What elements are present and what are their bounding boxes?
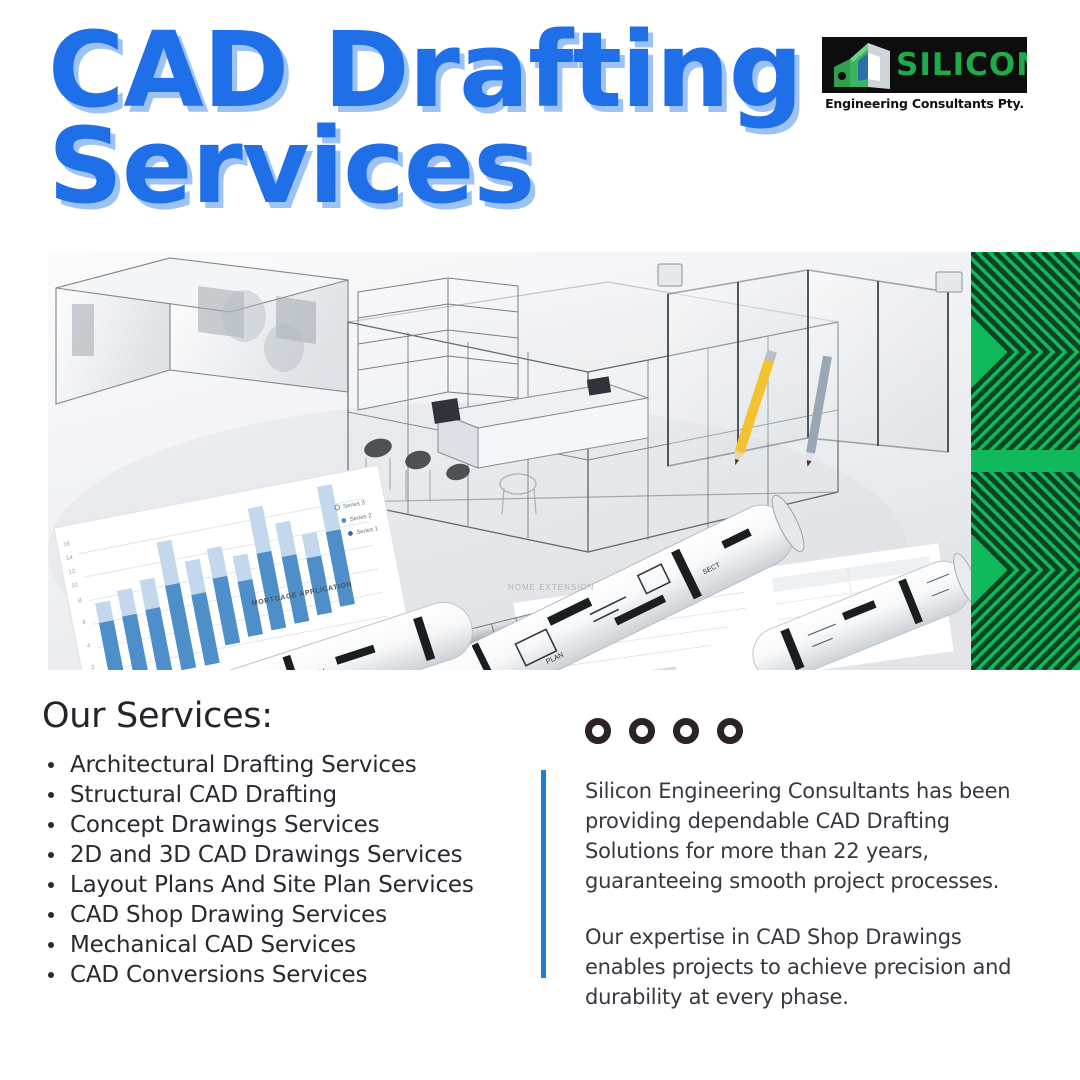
logo-tagline: Engineering Consultants Pty. Ltd. — [822, 93, 1027, 115]
about-paragraph-1: Silicon Engineering Consultants has been… — [585, 776, 1045, 896]
service-list-item: Architectural Drafting Services — [68, 750, 522, 780]
service-list-item: Layout Plans And Site Plan Services — [68, 870, 522, 900]
page-title: CAD Drafting Services — [48, 22, 808, 214]
logo-wordmark: SILICON — [896, 47, 1027, 83]
about-paragraph-2: Our expertise in CAD Shop Drawings enabl… — [585, 922, 1045, 1012]
service-list-item: Mechanical CAD Services — [68, 930, 522, 960]
watermark — [660, 1032, 880, 1066]
quote-accent-bar — [541, 770, 546, 978]
poster-canvas: CAD Drafting Services SILICON Engin — [0, 0, 1080, 1080]
service-list-item: CAD Shop Drawing Services — [68, 900, 522, 930]
services-heading: Our Services: — [42, 696, 522, 736]
services-section: Our Services: Architectural Drafting Ser… — [42, 696, 522, 990]
hero-banner: 1614 1210 86 42 0 — [48, 252, 1080, 670]
accent-pattern-panel — [971, 252, 1080, 670]
logo-main-row: SILICON — [822, 37, 1027, 95]
service-list-item: Structural CAD Drafting — [68, 780, 522, 810]
silicon-building-mark-icon — [834, 43, 890, 89]
ring-icon — [717, 718, 743, 744]
services-list: Architectural Drafting ServicesStructura… — [42, 750, 522, 990]
about-text: Silicon Engineering Consultants has been… — [585, 776, 1045, 1012]
header: CAD Drafting Services SILICON Engin — [0, 0, 1080, 252]
hero-image: 1614 1210 86 42 0 — [48, 252, 971, 670]
service-list-item: Concept Drawings Services — [68, 810, 522, 840]
ring-icon — [629, 718, 655, 744]
svg-text:HOME EXTENSION: HOME EXTENSION — [508, 583, 594, 592]
service-list-item: 2D and 3D CAD Drawings Services — [68, 840, 522, 870]
ring-icon — [673, 718, 699, 744]
company-logo[interactable]: SILICON Engineering Consultants Pty. Ltd… — [822, 37, 1027, 115]
ring-decoration-group — [585, 718, 743, 744]
service-list-item: CAD Conversions Services — [68, 960, 522, 990]
ring-icon — [585, 718, 611, 744]
